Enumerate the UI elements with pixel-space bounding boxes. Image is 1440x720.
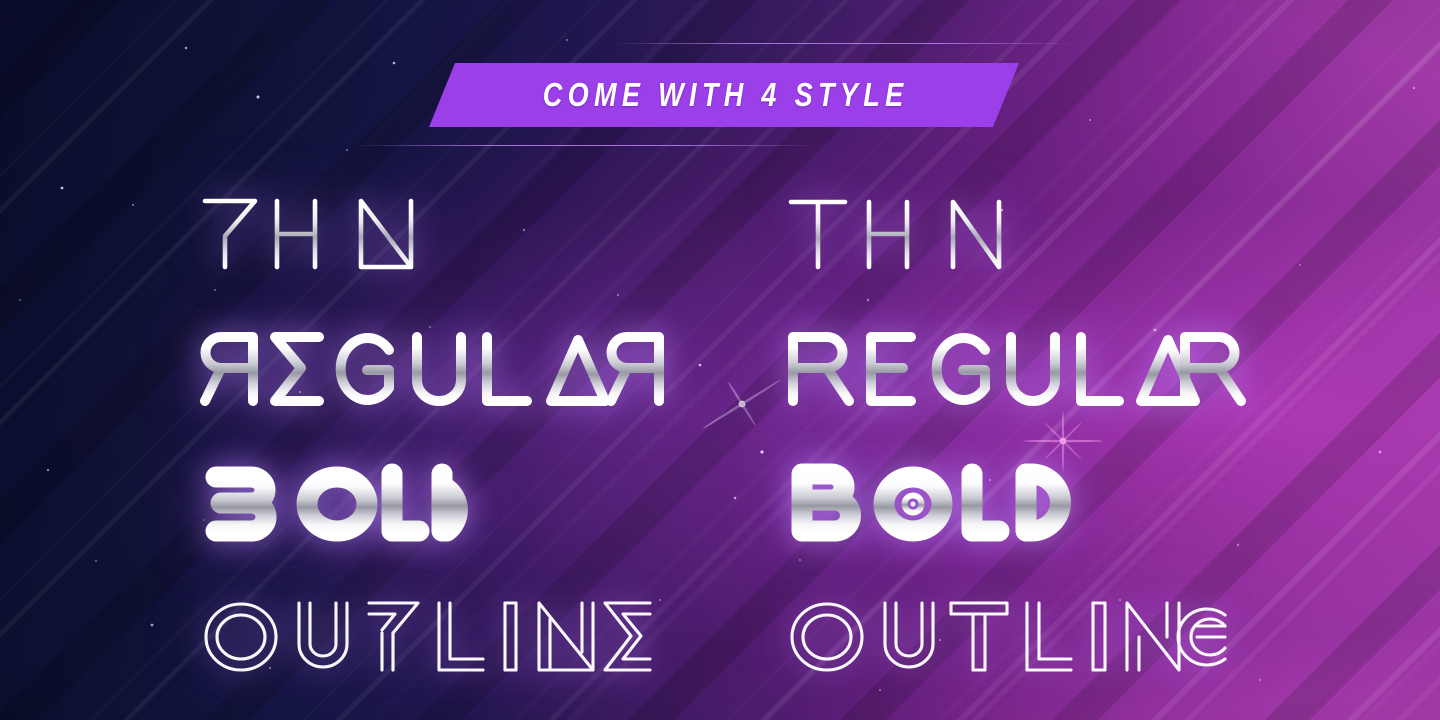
font-specimen-area (0, 0, 1440, 720)
left-word-regular (203, 330, 663, 406)
right-word-regular (789, 330, 1244, 406)
left-word-bold (203, 463, 478, 539)
left-word-outline (203, 597, 653, 673)
right-word-outline (789, 597, 1229, 673)
poster-canvas: COME WITH 4 STYLE (0, 0, 1440, 720)
right-word-bold (789, 463, 1059, 539)
right-word-thin (789, 196, 1004, 272)
left-word-thin (203, 196, 433, 272)
